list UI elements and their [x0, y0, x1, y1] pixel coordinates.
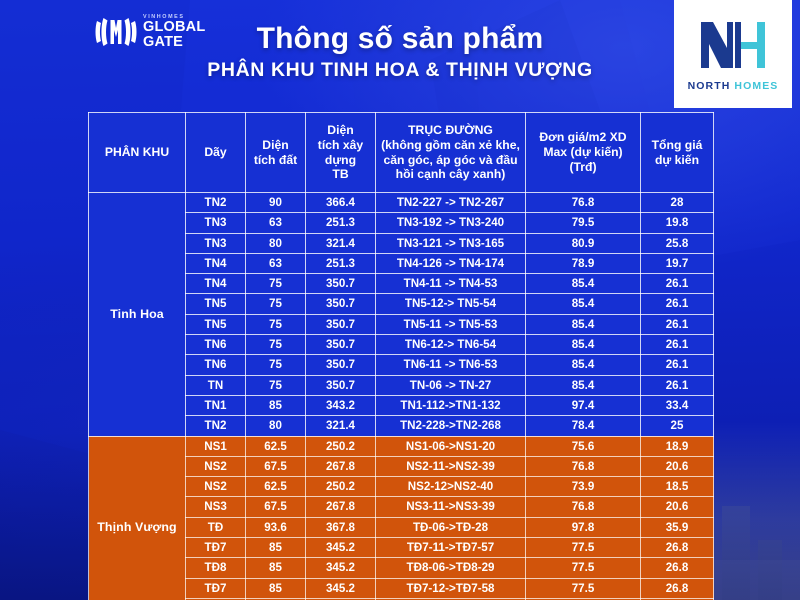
col-header-line: dựng	[309, 153, 372, 168]
cell-day: TN1	[186, 395, 246, 415]
cell-dien-tich-dat: 67.5	[246, 497, 306, 517]
cell-dien-tich-xay-dung: 350.7	[306, 375, 376, 395]
cell-truc-duong: NS3-11->NS3-39	[376, 497, 526, 517]
cell-dien-tich-xay-dung: 366.4	[306, 193, 376, 213]
cell-truc-duong: TĐ-06->TĐ-28	[376, 517, 526, 537]
cell-don-gia: 79.5	[526, 213, 641, 233]
cell-dien-tich-xay-dung: 267.8	[306, 497, 376, 517]
cell-don-gia: 78.9	[526, 253, 641, 273]
col-header-line: tích xây	[309, 138, 372, 153]
col-header-don-gia: Đơn giá/m2 XDMax (dự kiến)(Trđ)	[526, 113, 641, 193]
cell-tong-gia: 19.8	[641, 213, 714, 233]
cell-don-gia: 78.4	[526, 416, 641, 436]
north-homes-wordmark: NORTH HOMES	[688, 80, 779, 92]
cell-tong-gia: 35.9	[641, 517, 714, 537]
cell-don-gia: 85.4	[526, 274, 641, 294]
cell-truc-duong: TN1-112->TN1-132	[376, 395, 526, 415]
cell-dien-tich-dat: 67.5	[246, 456, 306, 476]
north-homes-word-north: NORTH	[688, 80, 731, 92]
cell-dien-tich-xay-dung: 350.7	[306, 355, 376, 375]
cell-tong-gia: 19.7	[641, 253, 714, 273]
col-header-line: TB	[309, 167, 372, 182]
col-header-truc-duong: TRỤC ĐƯỜNG(không gồm căn xẻ khe,căn góc,…	[376, 113, 526, 193]
cell-don-gia: 77.5	[526, 578, 641, 598]
cell-don-gia: 85.4	[526, 355, 641, 375]
page-header: VINHOMES GLOBAL GATE Thông số sản phẩm P…	[0, 0, 800, 108]
cell-dien-tich-dat: 62.5	[246, 477, 306, 497]
cell-day: TN2	[186, 416, 246, 436]
cell-tong-gia: 18.5	[641, 477, 714, 497]
cell-day: TĐ8	[186, 558, 246, 578]
cell-don-gia: 97.8	[526, 517, 641, 537]
cell-day: NS3	[186, 497, 246, 517]
cell-tong-gia: 26.8	[641, 578, 714, 598]
cell-don-gia: 76.8	[526, 497, 641, 517]
cell-truc-duong: TĐ7-12->TĐ7-58	[376, 578, 526, 598]
cell-dien-tich-dat: 90	[246, 193, 306, 213]
cell-truc-duong: NS2-11->NS2-39	[376, 456, 526, 476]
cell-tong-gia: 28	[641, 193, 714, 213]
cell-day: TĐ	[186, 517, 246, 537]
cell-day: NS1	[186, 436, 246, 456]
cell-tong-gia: 20.6	[641, 497, 714, 517]
cell-dien-tich-xay-dung: 251.3	[306, 213, 376, 233]
cell-tong-gia: 20.6	[641, 456, 714, 476]
cell-dien-tich-dat: 85	[246, 578, 306, 598]
cell-truc-duong: NS2-12>NS2-40	[376, 477, 526, 497]
cell-tong-gia: 18.9	[641, 436, 714, 456]
col-header-line: Diện	[309, 123, 372, 138]
col-header-dien-tich-dat: Diệntích đất	[246, 113, 306, 193]
cell-day: TN4	[186, 253, 246, 273]
cell-dien-tich-dat: 62.5	[246, 436, 306, 456]
cell-dien-tich-dat: 75	[246, 375, 306, 395]
cell-dien-tich-xay-dung: 321.4	[306, 233, 376, 253]
cell-dien-tich-dat: 75	[246, 355, 306, 375]
cell-dien-tich-xay-dung: 350.7	[306, 314, 376, 334]
col-header-line: hồi cạnh cây xanh)	[379, 167, 522, 182]
cell-day: TN3	[186, 213, 246, 233]
cell-truc-duong: TN3-121 -> TN3-165	[376, 233, 526, 253]
vinhomes-emblem-icon	[95, 15, 137, 49]
table-body: Tinh HoaTN290366.4TN2-227 -> TN2-26776.8…	[89, 193, 714, 600]
table-row: Tinh HoaTN290366.4TN2-227 -> TN2-26776.8…	[89, 193, 714, 213]
cell-truc-duong: TN5-11 -> TN5-53	[376, 314, 526, 334]
table-head: PHÂN KHU Dãy Diệntích đất Diệntích xâydự…	[89, 113, 714, 193]
north-homes-logo: NORTH HOMES	[674, 0, 792, 108]
cell-day: TN3	[186, 233, 246, 253]
cell-don-gia: 77.5	[526, 538, 641, 558]
cell-dien-tich-dat: 75	[246, 274, 306, 294]
cell-dien-tich-dat: 63	[246, 253, 306, 273]
cell-dien-tich-xay-dung: 350.7	[306, 294, 376, 314]
cell-day: NS2	[186, 477, 246, 497]
cell-tong-gia: 26.1	[641, 274, 714, 294]
cell-tong-gia: 26.1	[641, 294, 714, 314]
cell-day: TĐ7	[186, 578, 246, 598]
col-header-line: tích đất	[249, 153, 302, 168]
cell-tong-gia: 26.8	[641, 538, 714, 558]
col-header-line: Đơn giá/m2 XD	[529, 130, 637, 145]
north-homes-nh-monogram-icon	[695, 16, 771, 74]
cell-don-gia: 85.4	[526, 375, 641, 395]
cell-dien-tich-dat: 75	[246, 294, 306, 314]
col-header-day: Dãy	[186, 113, 246, 193]
cell-day: TĐ7	[186, 538, 246, 558]
cell-day: NS2	[186, 456, 246, 476]
cell-don-gia: 76.8	[526, 456, 641, 476]
cell-day: TN4	[186, 274, 246, 294]
cell-don-gia: 77.5	[526, 558, 641, 578]
cell-day: TN5	[186, 294, 246, 314]
cell-don-gia: 73.9	[526, 477, 641, 497]
cell-dien-tich-xay-dung: 367.8	[306, 517, 376, 537]
col-header-line: Tổng giá	[644, 138, 710, 153]
cell-day: TN5	[186, 314, 246, 334]
col-header-line: dự kiến	[644, 153, 710, 168]
cell-don-gia: 76.8	[526, 193, 641, 213]
cell-day: TN6	[186, 355, 246, 375]
cell-dien-tich-dat: 85	[246, 395, 306, 415]
cell-tong-gia: 26.1	[641, 314, 714, 334]
north-homes-word-homes: HOMES	[734, 80, 778, 92]
cell-don-gia: 80.9	[526, 233, 641, 253]
cell-tong-gia: 25.8	[641, 233, 714, 253]
group-label-thinh-vuong: Thịnh Vượng	[89, 436, 186, 600]
cell-tong-gia: 26.8	[641, 558, 714, 578]
col-header-line: Diện	[249, 138, 302, 153]
cell-don-gia: 85.4	[526, 294, 641, 314]
cell-dien-tich-dat: 80	[246, 233, 306, 253]
cell-dien-tich-dat: 85	[246, 538, 306, 558]
col-header-line: PHÂN KHU	[92, 145, 182, 160]
col-header-line: Dãy	[189, 145, 242, 160]
cell-dien-tich-dat: 85	[246, 558, 306, 578]
cell-don-gia: 85.4	[526, 335, 641, 355]
cell-truc-duong: TN4-11 -> TN4-53	[376, 274, 526, 294]
cell-truc-duong: TN4-126 -> TN4-174	[376, 253, 526, 273]
col-header-dien-tich-xay-dung: Diệntích xâydựngTB	[306, 113, 376, 193]
cell-truc-duong: TN6-11 -> TN6-53	[376, 355, 526, 375]
table-header-row: PHÂN KHU Dãy Diệntích đất Diệntích xâydự…	[89, 113, 714, 193]
vinhomes-global-gate-logo: VINHOMES GLOBAL GATE	[95, 10, 195, 54]
group-label-tinh-hoa: Tinh Hoa	[89, 193, 186, 437]
page-subtitle: PHÂN KHU TINH HOA & THỊNH VƯỢNG	[190, 59, 610, 82]
cell-dien-tich-dat: 80	[246, 416, 306, 436]
page-title: Thông số sản phẩm	[190, 22, 610, 56]
cell-truc-duong: TN5-12-> TN5-54	[376, 294, 526, 314]
col-header-tong-gia: Tổng giádự kiến	[641, 113, 714, 193]
cell-tong-gia: 26.1	[641, 375, 714, 395]
cell-don-gia: 97.4	[526, 395, 641, 415]
cell-dien-tich-xay-dung: 250.2	[306, 436, 376, 456]
cell-truc-duong: TN6-12-> TN6-54	[376, 335, 526, 355]
cell-tong-gia: 33.4	[641, 395, 714, 415]
product-spec-table: PHÂN KHU Dãy Diệntích đất Diệntích xâydự…	[88, 112, 714, 600]
cell-tong-gia: 26.1	[641, 335, 714, 355]
cell-dien-tich-dat: 75	[246, 314, 306, 334]
cell-dien-tich-xay-dung: 345.2	[306, 578, 376, 598]
table-row: Thịnh VượngNS162.5250.2NS1-06->NS1-2075.…	[89, 436, 714, 456]
cell-dien-tich-xay-dung: 345.2	[306, 538, 376, 558]
col-header-line: căn góc, áp góc và đầu	[379, 153, 522, 168]
cell-dien-tich-xay-dung: 345.2	[306, 558, 376, 578]
cell-truc-duong: TN-06 -> TN-27	[376, 375, 526, 395]
cell-truc-duong: TĐ8-06->TĐ8-29	[376, 558, 526, 578]
col-header-line: (không gồm căn xẻ khe,	[379, 138, 522, 153]
cell-dien-tich-dat: 63	[246, 213, 306, 233]
cell-don-gia: 75.6	[526, 436, 641, 456]
cell-day: TN	[186, 375, 246, 395]
cell-day: TN2	[186, 193, 246, 213]
cell-dien-tich-xay-dung: 321.4	[306, 416, 376, 436]
cell-dien-tich-dat: 75	[246, 335, 306, 355]
col-header-line: Max (dự kiến)	[529, 145, 637, 160]
cell-truc-duong: TN3-192 -> TN3-240	[376, 213, 526, 233]
cell-tong-gia: 25	[641, 416, 714, 436]
col-header-line: TRỤC ĐƯỜNG	[379, 123, 522, 138]
cell-dien-tich-xay-dung: 250.2	[306, 477, 376, 497]
cell-dien-tich-xay-dung: 350.7	[306, 335, 376, 355]
cell-day: TN6	[186, 335, 246, 355]
col-header-phan-khu: PHÂN KHU	[89, 113, 186, 193]
cell-truc-duong: TĐ7-11->TĐ7-57	[376, 538, 526, 558]
cell-dien-tich-xay-dung: 267.8	[306, 456, 376, 476]
col-header-line: (Trđ)	[529, 160, 637, 175]
cell-dien-tich-dat: 93.6	[246, 517, 306, 537]
cell-dien-tich-xay-dung: 350.7	[306, 274, 376, 294]
cell-truc-duong: NS1-06->NS1-20	[376, 436, 526, 456]
cell-don-gia: 85.4	[526, 314, 641, 334]
cell-tong-gia: 26.1	[641, 355, 714, 375]
cell-dien-tich-xay-dung: 251.3	[306, 253, 376, 273]
cell-dien-tich-xay-dung: 343.2	[306, 395, 376, 415]
cell-truc-duong: TN2-227 -> TN2-267	[376, 193, 526, 213]
cell-truc-duong: TN2-228->TN2-268	[376, 416, 526, 436]
product-spec-table-container: PHÂN KHU Dãy Diệntích đất Diệntích xâydự…	[88, 112, 713, 600]
title-block: Thông số sản phẩm PHÂN KHU TINH HOA & TH…	[190, 22, 610, 82]
